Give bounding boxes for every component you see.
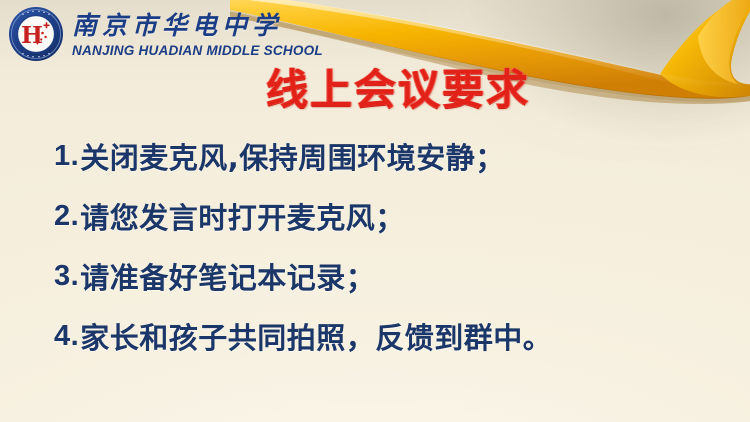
- svg-text:H: H: [21, 22, 43, 49]
- requirement-text: 家长和孩子共同拍照，反馈到群中。: [80, 315, 552, 357]
- requirement-item: 2. 请您发言时打开麦克风；: [54, 186, 714, 246]
- slide-title: 线上会议要求: [0, 56, 750, 117]
- school-name-block: 南京市华电中学 NANJING HUADIAN MIDDLE SCHOOL: [72, 11, 331, 57]
- requirements-list: 1. 关闭麦克风,保持周围环境安静； 2. 请您发言时打开麦克风； 3. 请准备…: [54, 126, 714, 366]
- requirement-text: 请您发言时打开麦克风；: [80, 195, 405, 237]
- school-crest-icon: H: [8, 6, 64, 62]
- school-name-english: NANJING HUADIAN MIDDLE SCHOOL: [72, 43, 323, 57]
- requirement-number: 4.: [54, 320, 79, 353]
- requirement-number: 3.: [54, 260, 79, 293]
- requirement-item: 3. 请准备好笔记本记录；: [54, 246, 714, 306]
- school-identity-header: H 南京市华电中学 NANJING HUADIAN MIDDLE SCHOOL: [8, 6, 331, 62]
- requirement-text: 关闭麦克风,保持周围环境安静；: [80, 135, 505, 177]
- requirement-text: 请准备好笔记本记录；: [80, 255, 375, 297]
- requirement-number: 1.: [54, 140, 79, 173]
- school-name-chinese: 南京市华电中学: [72, 13, 331, 38]
- slide-canvas: H 南京市华电中学 NANJING HUADIAN MIDDLE SCHOOL …: [0, 0, 750, 422]
- requirement-item: 1. 关闭麦克风,保持周围环境安静；: [54, 126, 714, 186]
- requirement-number: 2.: [54, 200, 79, 233]
- requirement-item: 4. 家长和孩子共同拍照，反馈到群中。: [54, 306, 714, 366]
